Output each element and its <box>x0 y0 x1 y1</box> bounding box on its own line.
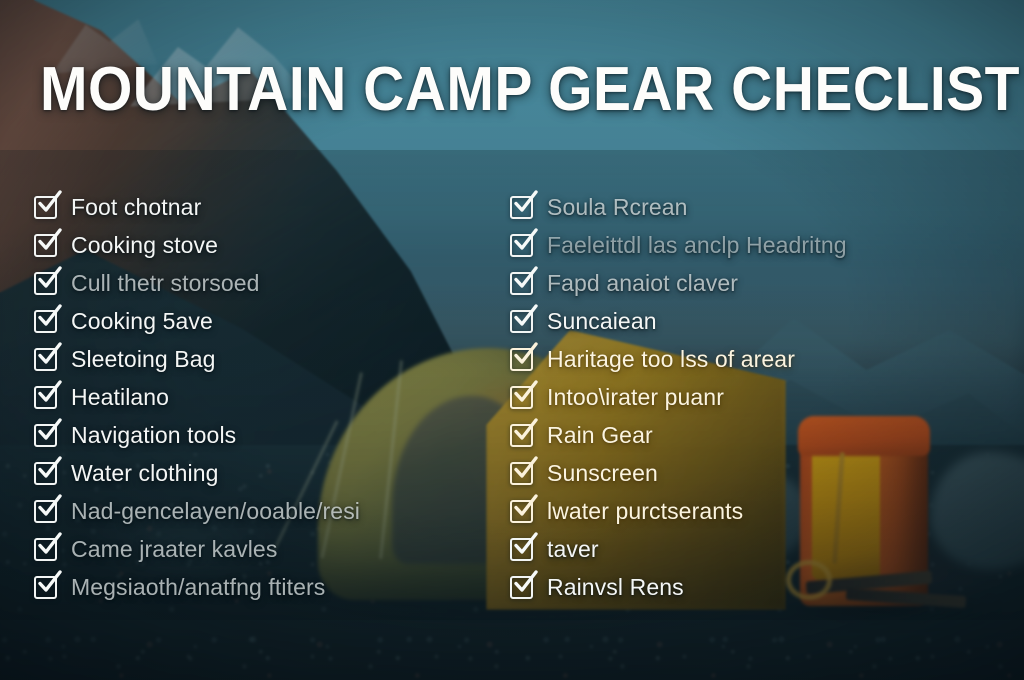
checklist-item[interactable]: Intoo\irater puanr <box>510 378 1010 416</box>
checklist-item[interactable]: Nad-gencelayen/ooable/resi <box>34 492 504 530</box>
checkbox-checked-icon[interactable] <box>34 424 57 447</box>
checkbox-checked-icon[interactable] <box>34 576 57 599</box>
checklist-item-label: Came jraater kavles <box>71 536 277 563</box>
checklist-item[interactable]: Came jraater kavles <box>34 530 504 568</box>
checkbox-checked-icon[interactable] <box>510 462 533 485</box>
checklist-item-label: Soula Rcrean <box>547 194 688 221</box>
checklist-item-label: Faeleittdl las anclp Headritng <box>547 232 847 259</box>
checklist-item[interactable]: Foot chotnar <box>34 188 504 226</box>
poster-canvas: MOUNTAIN CAMP GEAR CHECLIST Foot chotnar… <box>0 0 1024 680</box>
checkbox-checked-icon[interactable] <box>34 500 57 523</box>
checkbox-checked-icon[interactable] <box>510 576 533 599</box>
checklist-column-right: Soula RcreanFaeleittdl las anclp Headrit… <box>510 188 1010 606</box>
checklist-item-label: Cooking stove <box>71 232 218 259</box>
checklist-item[interactable]: Fapd anaiot claver <box>510 264 1010 302</box>
checkbox-checked-icon[interactable] <box>510 538 533 561</box>
checklist-item[interactable]: Soula Rcrean <box>510 188 1010 226</box>
checkbox-checked-icon[interactable] <box>510 234 533 257</box>
checkbox-checked-icon[interactable] <box>34 538 57 561</box>
checkbox-checked-icon[interactable] <box>34 348 57 371</box>
checkbox-checked-icon[interactable] <box>510 424 533 447</box>
checklist-item-label: Navigation tools <box>71 422 236 449</box>
checklist-item-label: lwater purctserants <box>547 498 743 525</box>
checklist-item-label: Cull thetr storsoed <box>71 270 260 297</box>
checklist-item-label: Water clothing <box>71 460 219 487</box>
checklist-item[interactable]: Cooking stove <box>34 226 504 264</box>
checkbox-checked-icon[interactable] <box>34 272 57 295</box>
checkbox-checked-icon[interactable] <box>510 500 533 523</box>
checklist-item-label: Rainvsl Rens <box>547 574 684 601</box>
checkbox-checked-icon[interactable] <box>510 310 533 333</box>
checklist-item[interactable]: Cull thetr storsoed <box>34 264 504 302</box>
checklist-item-label: Rain Gear <box>547 422 653 449</box>
checklist-item-label: Sleetoing Bag <box>71 346 216 373</box>
checklist-item[interactable]: Cooking 5ave <box>34 302 504 340</box>
checklist-item-label: Foot chotnar <box>71 194 201 221</box>
checklist-item-label: Megsiaoth/anatfng ftiters <box>71 574 325 601</box>
checkbox-checked-icon[interactable] <box>34 310 57 333</box>
checklist: Foot chotnarCooking stoveCull thetr stor… <box>0 188 1024 608</box>
checklist-item[interactable]: Sleetoing Bag <box>34 340 504 378</box>
checklist-item[interactable]: Haritage too lss of arear <box>510 340 1010 378</box>
checkbox-checked-icon[interactable] <box>510 386 533 409</box>
checkbox-checked-icon[interactable] <box>34 196 57 219</box>
checklist-item[interactable]: Suncaiean <box>510 302 1010 340</box>
checkbox-checked-icon[interactable] <box>510 348 533 371</box>
checkbox-checked-icon[interactable] <box>510 196 533 219</box>
checklist-item[interactable]: Rain Gear <box>510 416 1010 454</box>
checkbox-checked-icon[interactable] <box>34 462 57 485</box>
checklist-item-label: Nad-gencelayen/ooable/resi <box>71 498 360 525</box>
checklist-item[interactable]: Megsiaoth/anatfng ftiters <box>34 568 504 606</box>
checklist-item[interactable]: Faeleittdl las anclp Headritng <box>510 226 1010 264</box>
checklist-item[interactable]: taver <box>510 530 1010 568</box>
checklist-item-label: Fapd anaiot claver <box>547 270 738 297</box>
checklist-item-label: Heatilano <box>71 384 169 411</box>
poster-content: MOUNTAIN CAMP GEAR CHECLIST Foot chotnar… <box>0 0 1024 680</box>
checklist-item-label: Cooking 5ave <box>71 308 213 335</box>
checklist-item[interactable]: lwater purctserants <box>510 492 1010 530</box>
page-title: MOUNTAIN CAMP GEAR CHECLIST <box>40 58 908 121</box>
checklist-item[interactable]: Sunscreen <box>510 454 1010 492</box>
checklist-item-label: Intoo\irater puanr <box>547 384 724 411</box>
checklist-item[interactable]: Water clothing <box>34 454 504 492</box>
checklist-item[interactable]: Rainvsl Rens <box>510 568 1010 606</box>
checklist-item-label: Sunscreen <box>547 460 658 487</box>
checklist-item-label: taver <box>547 536 599 563</box>
checklist-column-left: Foot chotnarCooking stoveCull thetr stor… <box>34 188 504 606</box>
checkbox-checked-icon[interactable] <box>510 272 533 295</box>
checklist-item[interactable]: Heatilano <box>34 378 504 416</box>
checklist-item-label: Haritage too lss of arear <box>547 346 795 373</box>
checkbox-checked-icon[interactable] <box>34 234 57 257</box>
checklist-item-label: Suncaiean <box>547 308 657 335</box>
checkbox-checked-icon[interactable] <box>34 386 57 409</box>
checklist-item[interactable]: Navigation tools <box>34 416 504 454</box>
